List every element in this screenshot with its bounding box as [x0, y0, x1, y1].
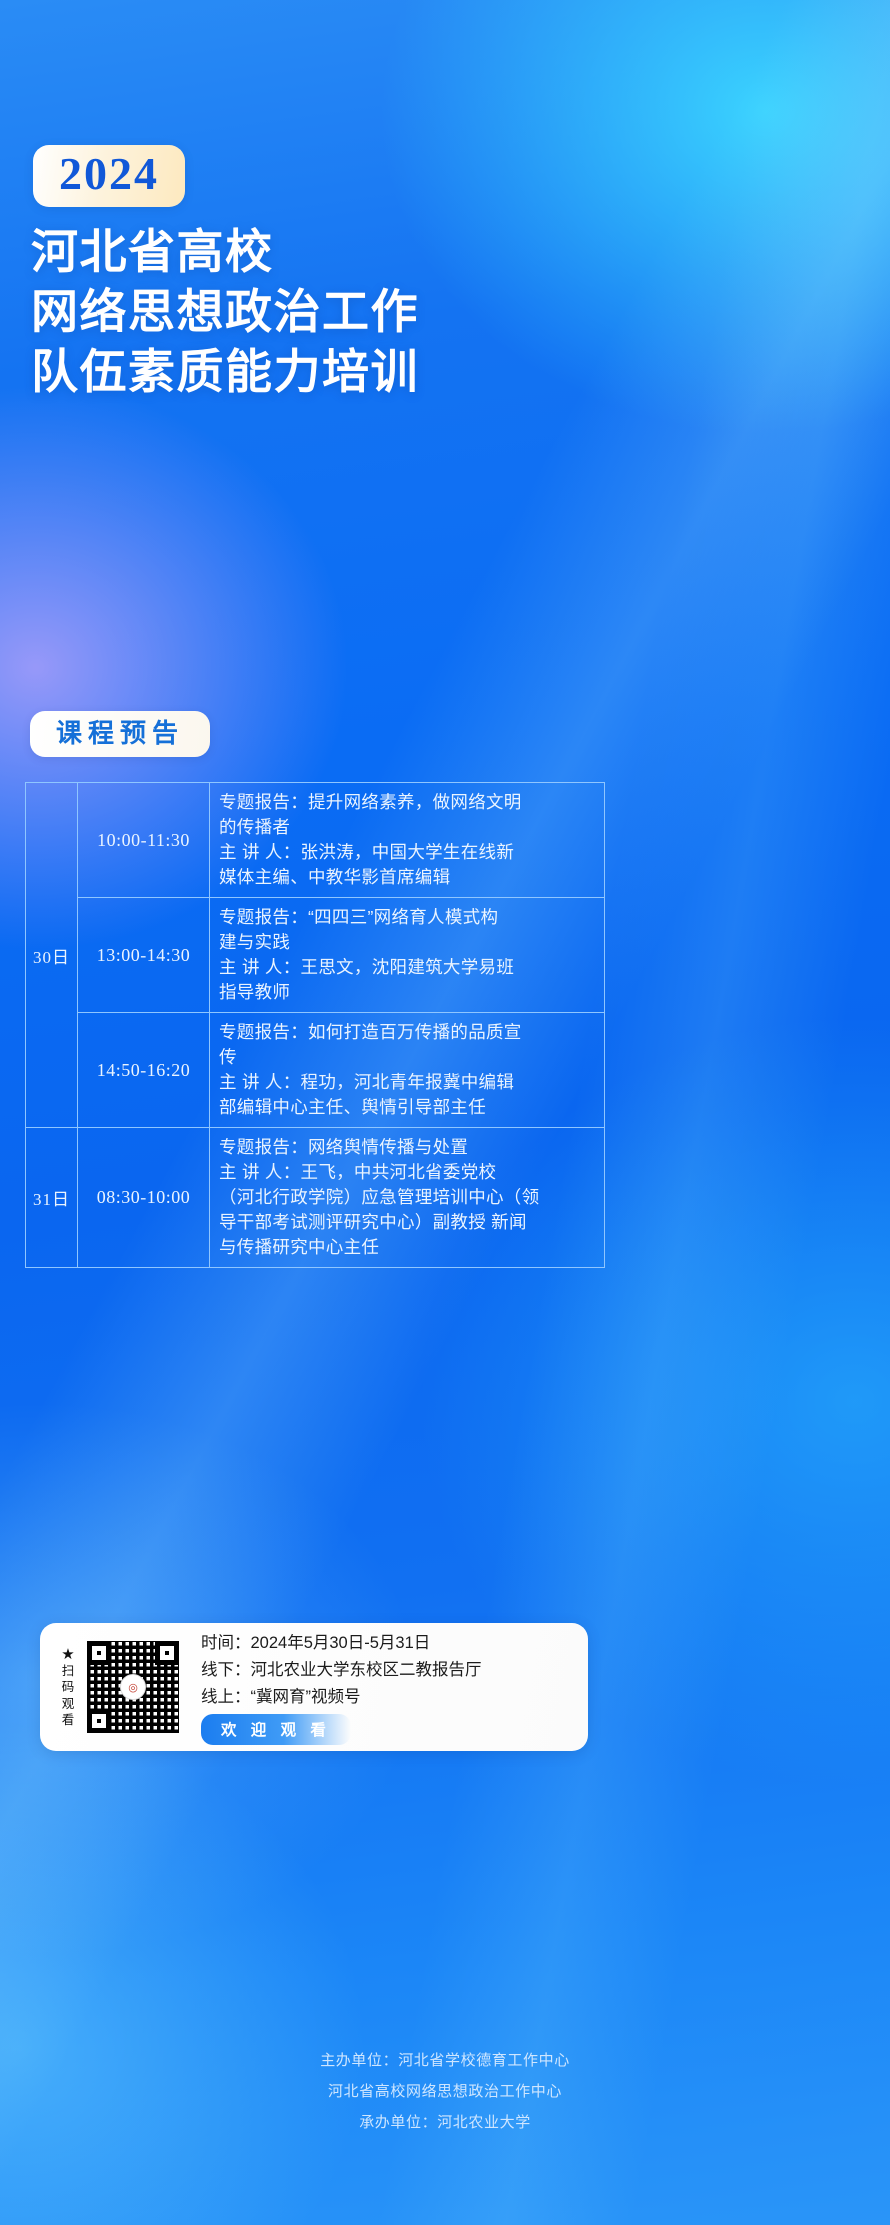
title-line-2: 网络思想政治工作	[31, 282, 419, 342]
cell-description: 专题报告：提升网络素养，做网络文明 的传播者 主 讲 人：张洪涛，中国大学生在线…	[210, 783, 605, 898]
table-row: 31日 08:30-10:00 专题报告：网络舆情传播与处置 主 讲 人：王飞，…	[26, 1128, 605, 1268]
cell-time: 08:30-10:00	[78, 1128, 210, 1268]
cell-description: 专题报告：网络舆情传播与处置 主 讲 人：王飞，中共河北省委党校 （河北行政学院…	[210, 1128, 605, 1268]
cell-day: 30日	[26, 783, 78, 1128]
title-line-1: 河北省高校	[31, 222, 419, 282]
schedule-table: 30日 10:00-11:30 专题报告：提升网络素养，做网络文明 的传播者 主…	[25, 782, 605, 1268]
desc-line: 专题报告：如何打造百万传播的品质宣	[219, 1020, 599, 1045]
desc-line: 专题报告：网络舆情传播与处置	[219, 1135, 599, 1160]
desc-line: 的传播者	[219, 815, 599, 840]
desc-line: 主 讲 人：王思文，沈阳建筑大学易班	[219, 955, 599, 980]
detail-offline-venue: 线下：河北农业大学东校区二教报告厅	[201, 1657, 482, 1684]
desc-line: 传	[219, 1045, 599, 1070]
footer-line: 主办单位：河北省学校德育工作中心	[0, 2045, 890, 2076]
desc-line: 与传播研究中心主任	[219, 1235, 599, 1260]
qr-finder-top-right	[155, 1641, 179, 1665]
footer-line: 承办单位：河北农业大学	[0, 2107, 890, 2138]
section-badge-label: 课程预告	[56, 720, 184, 746]
section-badge-course-preview: 课程预告	[30, 711, 210, 757]
footer-organizers: 主办单位：河北省学校德育工作中心 河北省高校网络思想政治工作中心 承办单位：河北…	[0, 2045, 890, 2138]
table-row: 14:50-16:20 专题报告：如何打造百万传播的品质宣 传 主 讲 人：程功…	[26, 1013, 605, 1128]
event-details: 时间：2024年5月30日-5月31日 线下：河北农业大学东校区二教报告厅 线上…	[201, 1630, 482, 1745]
cell-day: 31日	[26, 1128, 78, 1268]
desc-line: 专题报告：提升网络素养，做网络文明	[219, 790, 599, 815]
qr-code-icon[interactable]: ◎	[87, 1641, 179, 1733]
desc-line: 指导教师	[219, 980, 599, 1005]
star-icon: ★	[61, 1646, 74, 1663]
poster-canvas: 2024 河北省高校 网络思想政治工作 队伍素质能力培训 课程预告 30日 10…	[0, 0, 890, 2225]
desc-line: 导干部考试测评研究中心）副教授 新闻	[219, 1210, 599, 1235]
detail-time: 时间：2024年5月30日-5月31日	[201, 1630, 482, 1657]
desc-line: 主 讲 人：王飞，中共河北省委党校	[219, 1160, 599, 1185]
cell-time: 13:00-14:30	[78, 898, 210, 1013]
detail-online-channel: 线上：“冀网育”视频号	[201, 1684, 482, 1711]
scan-char: 看	[62, 1712, 75, 1729]
qr-finder-top-left	[87, 1641, 111, 1665]
desc-line: 专题报告：“四四三”网络育人模式构	[219, 905, 599, 930]
page-title: 河北省高校 网络思想政治工作 队伍素质能力培训	[31, 222, 419, 402]
desc-line: 主 讲 人：张洪涛，中国大学生在线新	[219, 840, 599, 865]
qr-center-logo-icon: ◎	[120, 1674, 146, 1700]
desc-line: 建与实践	[219, 930, 599, 955]
cell-description: 专题报告：如何打造百万传播的品质宣 传 主 讲 人：程功，河北青年报冀中编辑 部…	[210, 1013, 605, 1128]
scan-char: 观	[62, 1696, 75, 1713]
info-card: ★ 扫 码 观 看 ◎ 时间：2024年5月30日-5月31日 线下：河北农业大…	[40, 1623, 588, 1751]
year-badge: 2024	[33, 145, 185, 207]
scan-char: 码	[62, 1679, 75, 1696]
table-row: 30日 10:00-11:30 专题报告：提升网络素养，做网络文明 的传播者 主…	[26, 783, 605, 898]
scan-char: 扫	[62, 1663, 75, 1680]
year-badge-label: 2024	[59, 151, 159, 197]
cell-time: 10:00-11:30	[78, 783, 210, 898]
desc-line: （河北行政学院）应急管理培训中心（领	[219, 1185, 599, 1210]
desc-line: 部编辑中心主任、舆情引导部主任	[219, 1095, 599, 1120]
scan-label-column: ★ 扫 码 观 看	[58, 1646, 78, 1729]
desc-line: 媒体主编、中教华影首席编辑	[219, 865, 599, 890]
footer-line: 河北省高校网络思想政治工作中心	[0, 2076, 890, 2107]
desc-line: 主 讲 人：程功，河北青年报冀中编辑	[219, 1070, 599, 1095]
cell-time: 14:50-16:20	[78, 1013, 210, 1128]
qr-finder-bottom-left	[87, 1709, 111, 1733]
welcome-banner: 欢 迎 观 看	[201, 1714, 351, 1745]
title-line-3: 队伍素质能力培训	[31, 342, 419, 402]
cell-description: 专题报告：“四四三”网络育人模式构 建与实践 主 讲 人：王思文，沈阳建筑大学易…	[210, 898, 605, 1013]
table-row: 13:00-14:30 专题报告：“四四三”网络育人模式构 建与实践 主 讲 人…	[26, 898, 605, 1013]
